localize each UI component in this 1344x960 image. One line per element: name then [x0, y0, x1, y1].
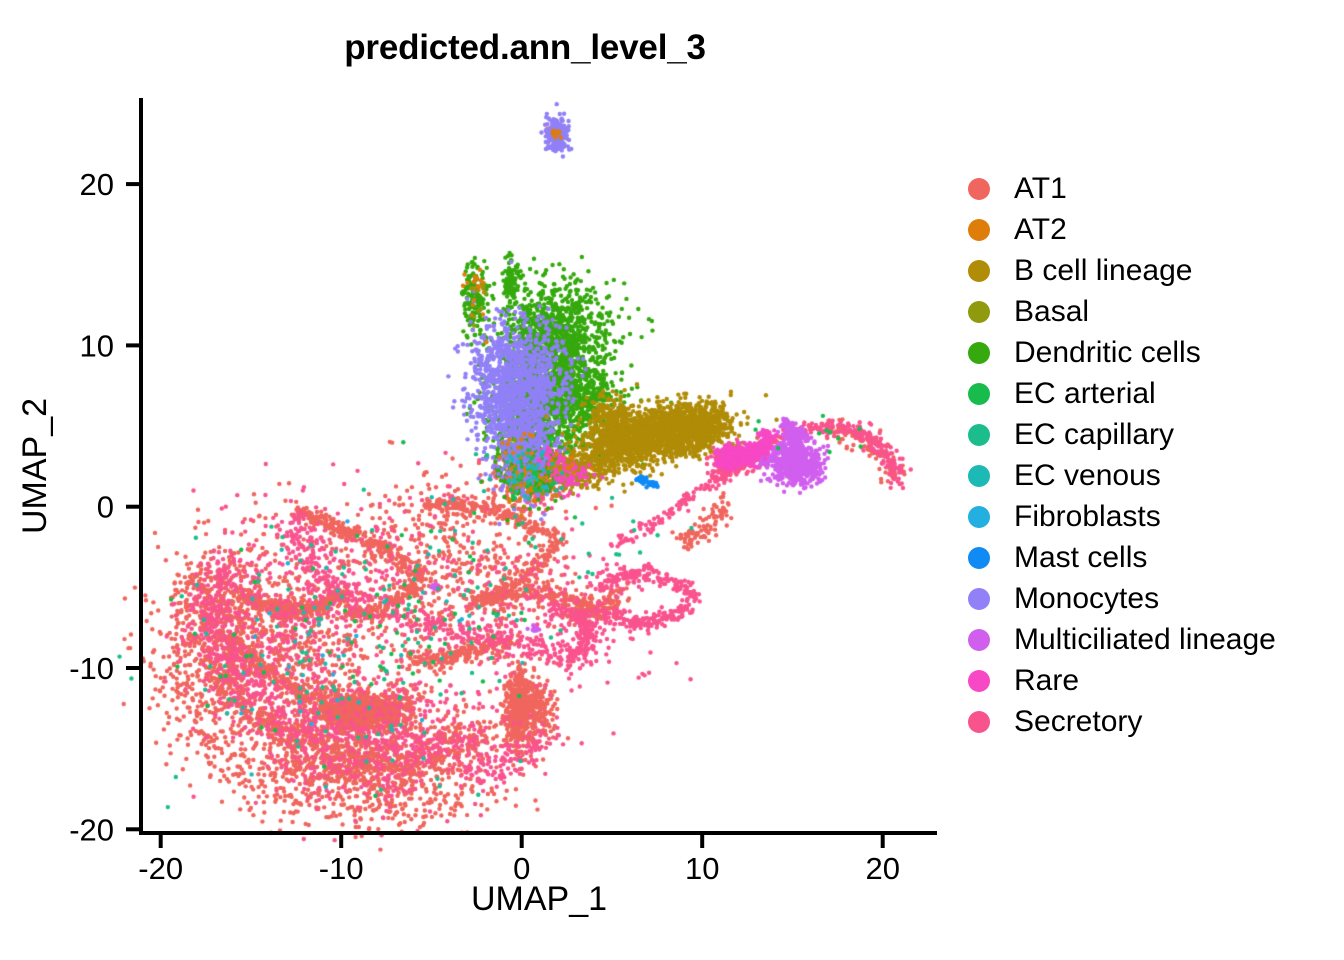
legend-color-dot-icon	[968, 629, 990, 651]
legend-item-label: EC capillary	[1014, 420, 1174, 450]
legend-item[interactable]: EC arterial	[968, 373, 1344, 414]
legend-color-dot-icon	[968, 342, 990, 364]
legend-item-label: Fibroblasts	[1014, 502, 1161, 532]
legend-item-label: EC arterial	[1014, 379, 1156, 409]
legend-color-dot-icon	[968, 465, 990, 487]
legend-item-label: AT1	[1014, 174, 1067, 204]
legend-item[interactable]: Fibroblasts	[968, 496, 1344, 537]
legend-color-dot-icon	[968, 711, 990, 733]
legend-item-label: Mast cells	[1014, 543, 1147, 573]
legend-item[interactable]: Rare	[968, 660, 1344, 701]
legend-color-dot-icon	[968, 588, 990, 610]
legend-item[interactable]: Dendritic cells	[968, 332, 1344, 373]
legend-item-label: Monocytes	[1014, 584, 1159, 614]
legend-item-label: Secretory	[1014, 707, 1142, 737]
legend-item[interactable]: Multiciliated lineage	[968, 619, 1344, 660]
legend-item[interactable]: AT1	[968, 168, 1344, 209]
legend-color-dot-icon	[968, 219, 990, 241]
legend: AT1AT2B cell lineageBasalDendritic cells…	[968, 168, 1344, 742]
legend-color-dot-icon	[968, 178, 990, 200]
legend-item-label: Basal	[1014, 297, 1089, 327]
legend-color-dot-icon	[968, 670, 990, 692]
umap-figure: predicted.ann_level_3 -20-1001020 -20-10…	[0, 0, 1344, 960]
legend-item[interactable]: Secretory	[968, 701, 1344, 742]
legend-item[interactable]: Monocytes	[968, 578, 1344, 619]
legend-item[interactable]: B cell lineage	[968, 250, 1344, 291]
legend-item-label: Dendritic cells	[1014, 338, 1201, 368]
legend-color-dot-icon	[968, 383, 990, 405]
legend-item[interactable]: EC capillary	[968, 414, 1344, 455]
legend-item-label: Rare	[1014, 666, 1079, 696]
legend-item[interactable]: AT2	[968, 209, 1344, 250]
legend-item-label: AT2	[1014, 215, 1067, 245]
legend-color-dot-icon	[968, 506, 990, 528]
legend-color-dot-icon	[968, 260, 990, 282]
legend-color-dot-icon	[968, 424, 990, 446]
legend-item[interactable]: EC venous	[968, 455, 1344, 496]
legend-color-dot-icon	[968, 301, 990, 323]
legend-item-label: Multiciliated lineage	[1014, 625, 1276, 655]
legend-item[interactable]: Basal	[968, 291, 1344, 332]
legend-item[interactable]: Mast cells	[968, 537, 1344, 578]
legend-item-label: B cell lineage	[1014, 256, 1192, 286]
legend-item-label: EC venous	[1014, 461, 1161, 491]
legend-color-dot-icon	[968, 547, 990, 569]
